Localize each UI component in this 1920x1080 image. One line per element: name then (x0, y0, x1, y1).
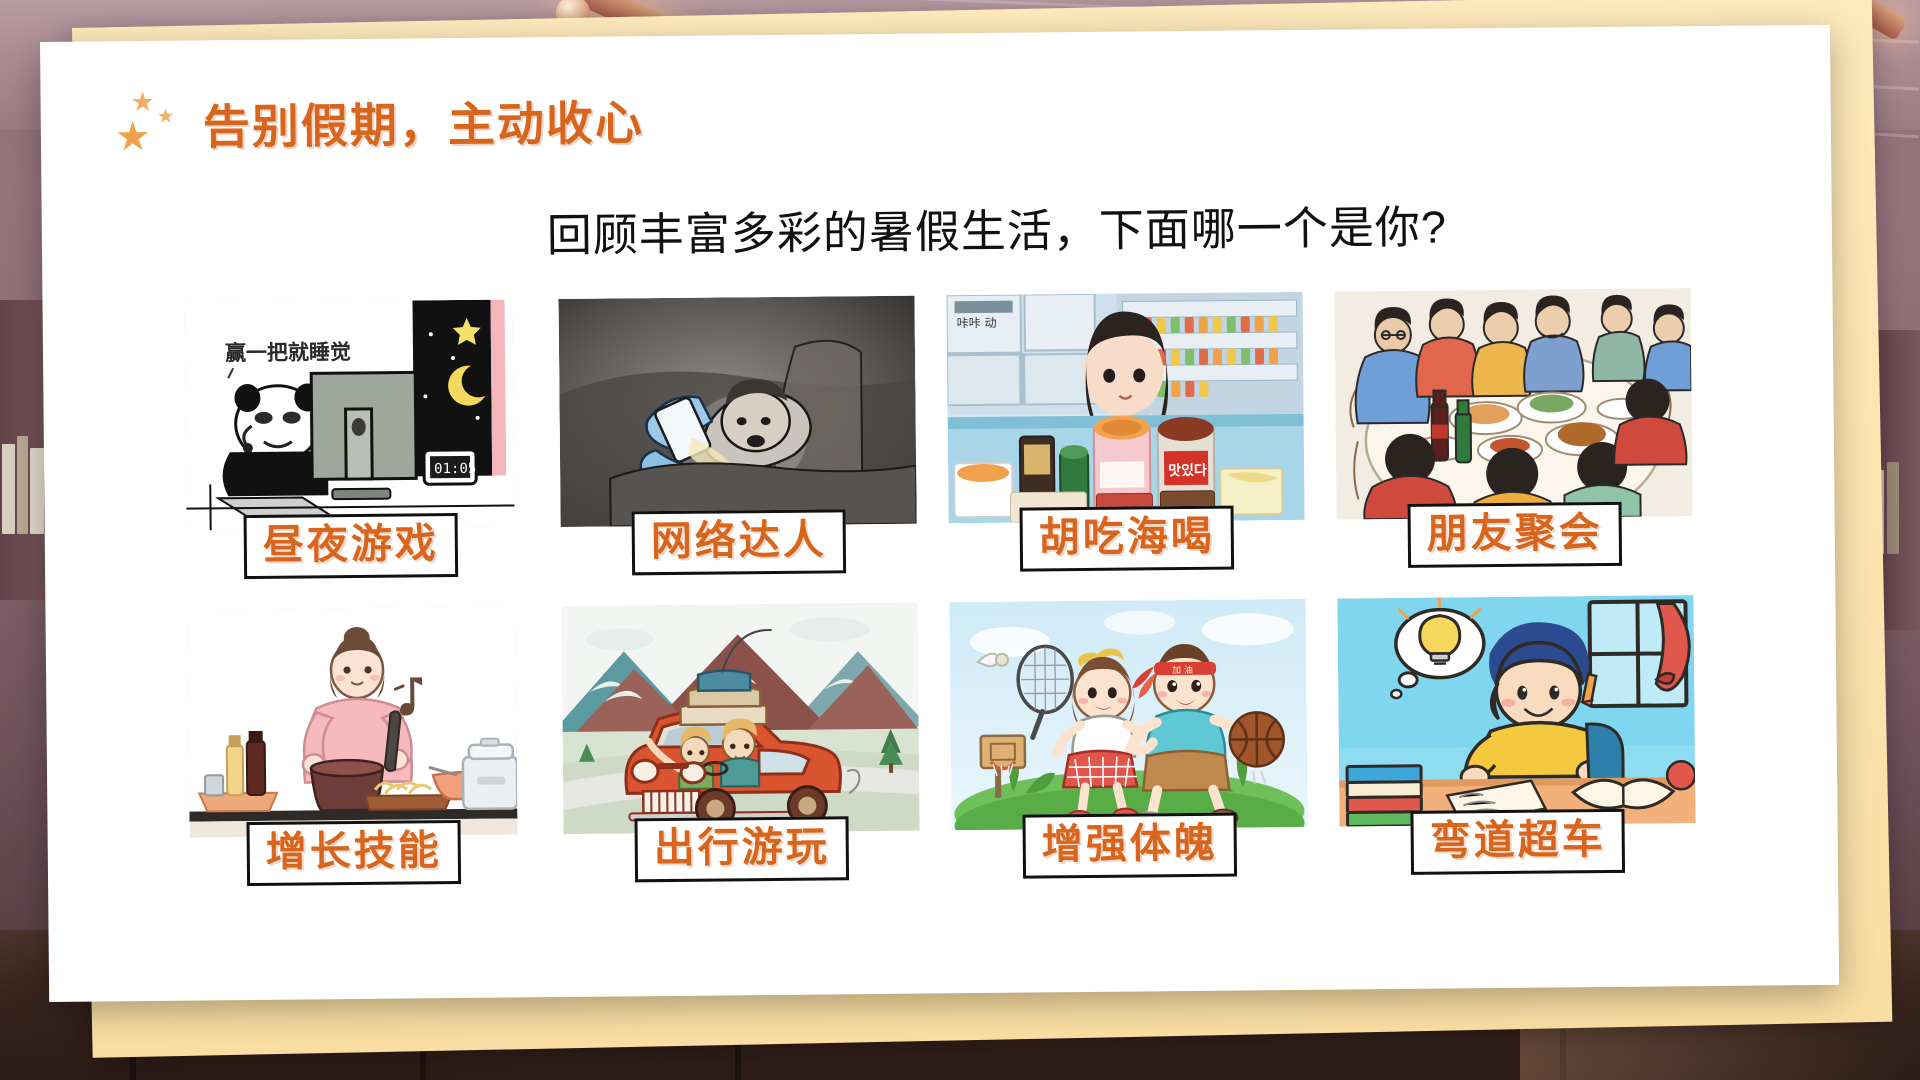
friends-dinner-gathering-illustration-icon (1334, 288, 1692, 519)
activity-label: 增强体魄 (1042, 820, 1218, 868)
activity-card-cooking[interactable]: 增长技能 (173, 606, 532, 892)
activity-row-1: 赢一把就睡觉 (171, 288, 1734, 586)
thumbnail-food: 咔咔 动 (946, 292, 1304, 523)
activity-card-sports[interactable]: 加 油 (949, 599, 1308, 885)
activity-label-badge: 增强体魄 (1022, 813, 1237, 879)
kids-sports-illustration-icon: 加 油 (949, 599, 1307, 830)
activity-label-badge: 胡吃海喝 (1020, 506, 1235, 572)
slide-card: ★ ★ ★ 告别假期，主动收心 回顾丰富多彩的暑假生活，下面哪一个是你? (40, 25, 1839, 1002)
book-5 (1887, 462, 1899, 554)
svg-text:01:05: 01:05 (434, 461, 476, 477)
activity-card-gaming[interactable]: 赢一把就睡觉 (171, 299, 530, 585)
book-2 (17, 436, 28, 534)
activity-label-badge: 增长技能 (246, 820, 461, 886)
activity-label: 昼夜游戏 (263, 520, 439, 568)
phone-in-bed-illustration-icon (558, 296, 916, 527)
slide-subtitle: 回顾丰富多彩的暑假生活，下面哪一个是你? (42, 187, 1833, 269)
star-medium-icon: ★ (130, 88, 154, 115)
activity-card-food[interactable]: 咔咔 动 (946, 292, 1305, 578)
book-3 (30, 448, 44, 534)
svg-text:加 油: 加 油 (1172, 664, 1193, 676)
activity-label-badge: 弯道超车 (1410, 809, 1625, 875)
thumbnail-gaming: 赢一把就睡觉 (185, 299, 515, 530)
activity-grid: 赢一把就睡觉 (171, 288, 1737, 893)
star-cluster: ★ ★ ★ (112, 90, 187, 157)
activity-label: 网络达人 (651, 516, 827, 564)
thumbnail-sports: 加 油 (949, 599, 1307, 830)
thumbnail-travel (561, 603, 919, 834)
slide-header: ★ ★ ★ 告别假期，主动收心 (112, 84, 644, 158)
cooking-skill-illustration-icon (187, 606, 517, 837)
activity-card-gathering[interactable]: 朋友聚会 (1334, 288, 1693, 574)
activity-label: 朋友聚会 (1427, 509, 1603, 557)
activity-label: 增长技能 (266, 827, 442, 875)
book-1 (2, 444, 15, 534)
thumbnail-phone (558, 296, 916, 527)
svg-text:맛있다: 맛있다 (1168, 462, 1207, 479)
road-trip-car-illustration-icon (561, 603, 919, 834)
activity-label: 弯道超车 (1430, 816, 1606, 864)
thumbnail-cooking (187, 606, 517, 837)
studying-boy-idea-illustration-icon (1337, 595, 1695, 826)
svg-text:赢一把就睡觉: 赢一把就睡觉 (225, 340, 351, 365)
gaming-at-night-meme-icon: 赢一把就睡觉 (185, 299, 515, 530)
activity-card-phone[interactable]: 网络达人 (558, 296, 917, 582)
page-title: 告别假期，主动收心 (202, 84, 644, 157)
activity-label-badge: 网络达人 (632, 509, 847, 575)
activity-label-badge: 朋友聚会 (1407, 502, 1622, 568)
star-large-icon: ★ (115, 116, 151, 156)
activity-label-badge: 出行游玩 (634, 816, 849, 882)
activity-label: 出行游玩 (654, 823, 830, 871)
activity-label-badge: 昼夜游戏 (244, 513, 459, 579)
activity-label: 胡吃海喝 (1039, 513, 1215, 561)
activity-card-travel[interactable]: 出行游玩 (561, 603, 920, 889)
star-small-icon: ★ (157, 106, 175, 126)
thumbnail-study (1337, 595, 1695, 826)
svg-text:咔咔 动: 咔咔 动 (957, 316, 997, 330)
instant-noodles-feast-illustration-icon: 咔咔 动 (946, 292, 1304, 523)
activity-card-study[interactable]: 弯道超车 (1337, 595, 1696, 881)
thumbnail-gathering (1334, 288, 1692, 519)
activity-row-2: 增长技能 (173, 595, 1736, 893)
